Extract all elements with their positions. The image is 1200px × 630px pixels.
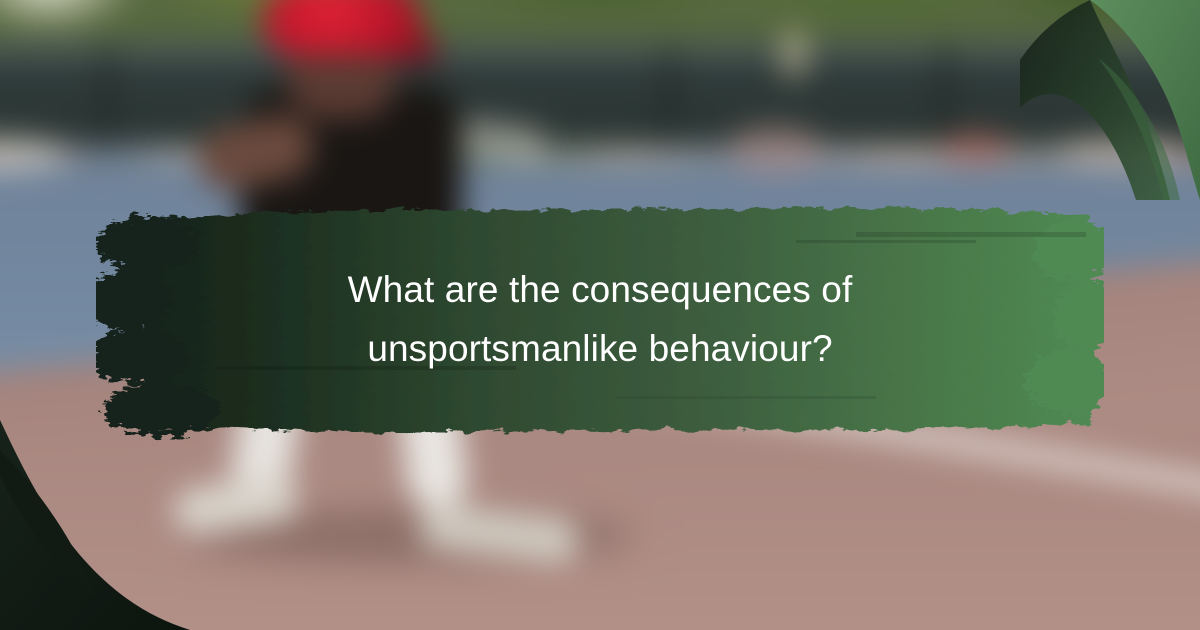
background-blur-blob <box>780 30 808 79</box>
red-cap <box>263 0 422 55</box>
background-fence-rail <box>0 49 1200 59</box>
question-card: What are the consequences of unsportsman… <box>0 0 1200 630</box>
background-fence <box>0 40 1200 163</box>
background-blur-blob <box>1056 136 1183 168</box>
headline: What are the consequences of unsportsman… <box>150 240 1050 400</box>
background-blur-blob <box>939 130 1013 166</box>
background-fence-post <box>664 40 675 163</box>
headline-line-2: unsportsmanlike behaviour? <box>367 323 832 376</box>
background-blur-blob <box>727 125 822 174</box>
background-fence-post <box>102 40 113 163</box>
headline-line-1: What are the consequences of <box>348 264 853 317</box>
